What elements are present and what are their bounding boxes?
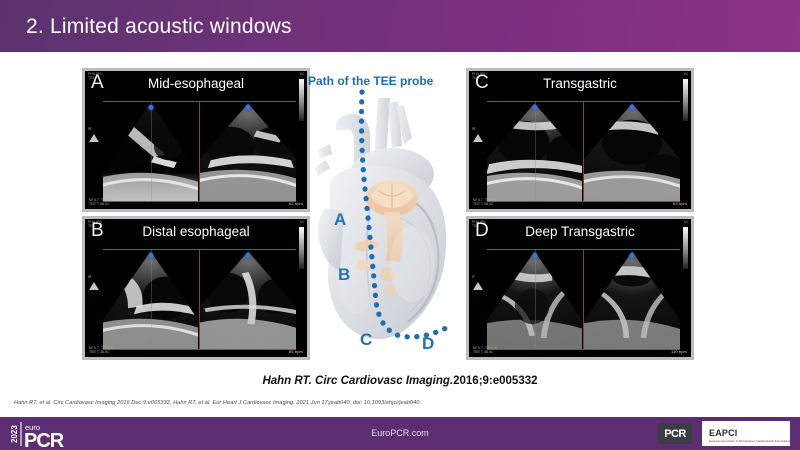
panel-title-c: Transgastric	[469, 76, 691, 91]
tee-probe-diagram: Path of the TEE probe	[300, 62, 470, 367]
echo-sectors-d	[487, 249, 680, 350]
pcr-badge-text: PCR	[664, 428, 685, 440]
slide: 2. Limited acoustic windows PHILIPS TEE …	[0, 0, 800, 450]
echo-panel-a: PHILIPS TEE 60 A Mid-esophageal R	[82, 68, 310, 212]
slide-header: 2. Limited acoustic windows	[0, 0, 800, 52]
sector-right	[583, 249, 680, 350]
sector-midline	[151, 101, 152, 202]
sector-left	[487, 249, 583, 350]
echo-panel-a-inner: PHILIPS TEE 60 A Mid-esophageal R	[85, 71, 307, 209]
heart-rate-b: 85 bpm	[289, 349, 303, 354]
sector-left	[103, 101, 199, 202]
path-label-d: D	[422, 334, 434, 354]
path-label-a: A	[334, 210, 346, 230]
echo-sectors-a	[103, 101, 296, 202]
pcr-badge-logo: PCR	[658, 423, 692, 444]
panel-title-d: Deep Transgastric	[469, 224, 691, 239]
heart-rate-c: 63 bpm	[673, 201, 687, 206]
orientation-label: R	[88, 274, 91, 279]
sector-right	[199, 101, 296, 202]
sector-marker-icon	[246, 105, 251, 110]
echo-sectors-b	[103, 249, 296, 350]
echo-panel-b: PHILIPS TEE 60 B Distal esophageal R	[82, 216, 310, 360]
orientation-label: R	[472, 126, 475, 131]
sector-midline	[151, 249, 152, 350]
sector-marker-icon	[246, 253, 251, 258]
ultrasound-fan-icon	[199, 251, 296, 350]
path-label-b: B	[338, 265, 350, 285]
slide-footer: 2023 euro PCR EuroPCR.com PCR EAPCI Euro…	[0, 417, 800, 450]
orientation-triangle-icon	[473, 282, 483, 290]
panel-title-a: Mid-esophageal	[85, 76, 307, 91]
eapci-name: EAPCI	[709, 428, 738, 438]
main-citation-ref: 2016;9:e005332	[453, 375, 537, 387]
echo-panel-d-inner: PHILIPS TEE 60 D Deep Transgastric F	[469, 219, 691, 357]
echo-sectors-c	[487, 101, 680, 202]
sector-marker-icon	[630, 105, 635, 110]
sector-marker-icon	[148, 105, 153, 110]
sector-right	[199, 249, 296, 350]
sector-right	[583, 101, 680, 202]
machine-text-bottom-left: MI 0.7 TIS 0.5 TEE T 38.0C	[473, 198, 497, 207]
ultrasound-fan-icon	[583, 103, 680, 202]
orientation-triangle-icon	[473, 134, 483, 142]
sector-marker-icon	[630, 253, 635, 258]
sector-marker-icon	[532, 253, 537, 258]
sector-left	[103, 249, 199, 350]
heart-rate-a: 62 bpm	[289, 201, 303, 206]
main-citation: Hahn RT. Circ Cardiovasc Imaging.2016;9:…	[0, 375, 800, 387]
machine-text-bottom-left: MI 0.7 TIS 0.5 TEE T 38.0C	[473, 346, 497, 355]
heart-anatomy-illustration	[300, 88, 470, 358]
sector-left	[487, 101, 583, 202]
orientation-triangle-icon	[89, 282, 99, 290]
sector-midline	[535, 249, 536, 350]
ultrasound-fan-icon	[583, 251, 680, 350]
echo-panel-b-inner: PHILIPS TEE 60 B Distal esophageal R	[85, 219, 307, 357]
orientation-triangle-icon	[89, 134, 99, 142]
orientation-label: F	[472, 274, 474, 279]
heart-rate-d: 110 bpm	[671, 349, 687, 354]
machine-text-bottom-left: MI 0.7 TIS 0.5 TEE T 38.0C	[89, 198, 113, 207]
sector-marker-icon	[148, 253, 153, 258]
path-label-c: C	[360, 330, 372, 350]
echo-panel-d: PHILIPS TEE 60 D Deep Transgastric F	[466, 216, 694, 360]
page-title: 2. Limited acoustic windows	[26, 15, 292, 39]
ultrasound-fan-icon	[199, 103, 296, 202]
echo-panel-c: PHILIPS TEE 60 C Transgastric R	[466, 68, 694, 212]
diagram-heading: Path of the TEE probe	[308, 74, 468, 88]
echo-panel-c-inner: PHILIPS TEE 60 C Transgastric R	[469, 71, 691, 209]
eapci-logo: EAPCI European Association of Percutaneo…	[702, 421, 790, 446]
sector-midline	[535, 101, 536, 202]
small-citation: Hahn RT, et al. Circ Cardiovasc Imaging …	[14, 400, 784, 406]
main-citation-journal: Hahn RT. Circ Cardiovasc Imaging.	[262, 375, 453, 387]
eapci-subtitle: European Association of Percutaneous Car…	[709, 441, 790, 444]
orientation-label: R	[88, 126, 91, 131]
machine-text-bottom-left: MI 0.7 TIS 0.5 TEE T 38.5C	[89, 346, 113, 355]
sector-marker-icon	[532, 105, 537, 110]
eapci-text-block: EAPCI European Association of Percutaneo…	[709, 424, 790, 444]
panel-title-b: Distal esophageal	[85, 224, 307, 239]
